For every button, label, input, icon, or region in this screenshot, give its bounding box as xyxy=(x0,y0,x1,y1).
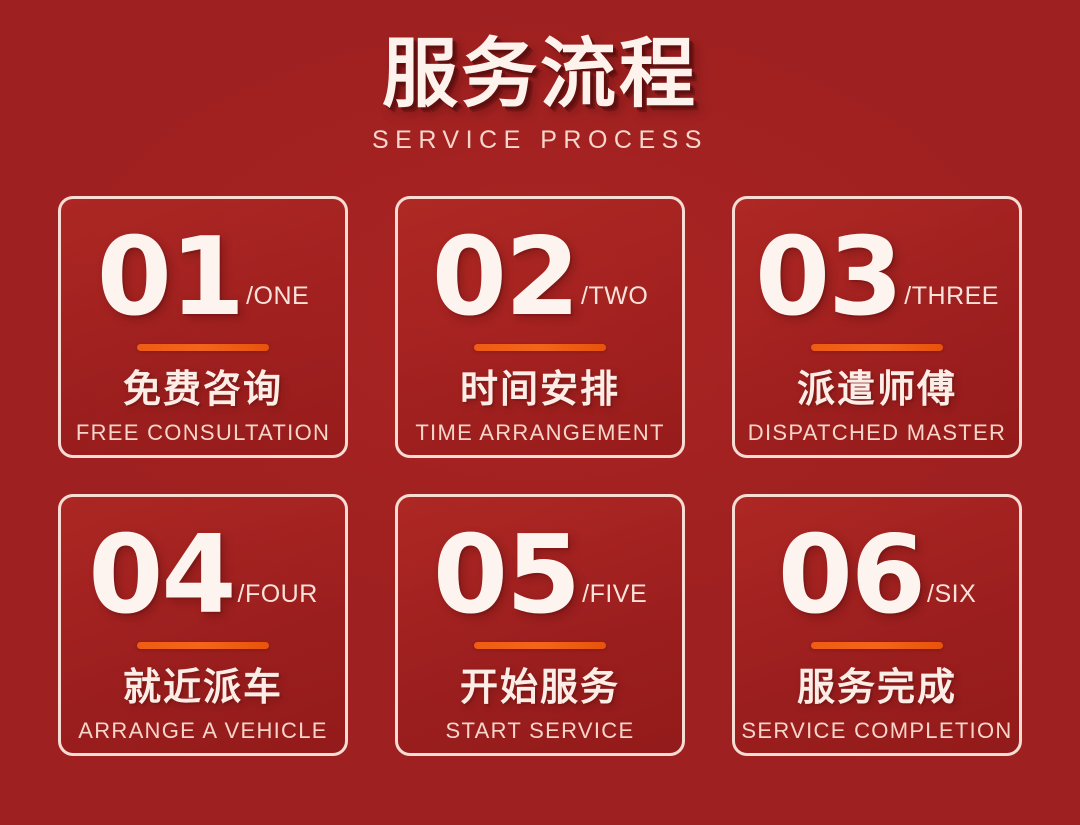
step-label-en: SERVICE COMPLETION xyxy=(741,719,1012,743)
step-grid: 01 /ONE 免费咨询 FREE CONSULTATION 02 /TWO 时… xyxy=(58,196,1022,756)
step-number-suffix: /FOUR xyxy=(238,580,318,625)
step-number-suffix: /FIVE xyxy=(582,580,647,625)
step-card-06[interactable]: 06 /SIX 服务完成 SERVICE COMPLETION xyxy=(732,494,1022,756)
step-label-en: ARRANGE A VEHICLE xyxy=(78,719,328,743)
orange-divider-icon xyxy=(474,344,606,351)
step-number: 06 xyxy=(778,526,924,625)
step-label-cn: 开始服务 xyxy=(460,666,620,709)
orange-divider-icon xyxy=(811,344,943,351)
step-number: 04 xyxy=(88,526,234,625)
orange-divider-icon xyxy=(137,642,269,649)
step-number: 02 xyxy=(432,228,578,327)
step-card-01[interactable]: 01 /ONE 免费咨询 FREE CONSULTATION xyxy=(58,196,348,458)
orange-divider-icon xyxy=(137,344,269,351)
step-card-05[interactable]: 05 /FIVE 开始服务 START SERVICE xyxy=(395,494,685,756)
step-label-cn: 服务完成 xyxy=(797,666,957,709)
step-number-suffix: /SIX xyxy=(927,580,976,625)
service-process-poster: 服务流程 SERVICE PROCESS 01 /ONE 免费咨询 FREE C… xyxy=(0,0,1080,825)
page-title: 服务流程 xyxy=(0,34,1080,114)
step-number-row: 03 /THREE xyxy=(735,215,1019,327)
step-label-en: START SERVICE xyxy=(446,719,635,743)
step-label-en: DISPATCHED MASTER xyxy=(748,421,1006,445)
step-label-cn: 时间安排 xyxy=(460,368,620,411)
step-card-03[interactable]: 03 /THREE 派遣师傅 DISPATCHED MASTER xyxy=(732,196,1022,458)
step-number: 03 xyxy=(755,228,901,327)
step-label-en: TIME ARRANGEMENT xyxy=(415,421,664,445)
step-number-row: 04 /FOUR xyxy=(61,513,345,625)
step-number-suffix: /THREE xyxy=(904,282,999,327)
orange-divider-icon xyxy=(474,642,606,649)
step-card-02[interactable]: 02 /TWO 时间安排 TIME ARRANGEMENT xyxy=(395,196,685,458)
orange-divider-icon xyxy=(811,642,943,649)
step-label-en: FREE CONSULTATION xyxy=(76,421,330,445)
step-label-cn: 就近派车 xyxy=(123,666,283,709)
poster-header: 服务流程 SERVICE PROCESS xyxy=(0,34,1080,155)
page-subtitle: SERVICE PROCESS xyxy=(0,126,1080,155)
step-number: 01 xyxy=(97,228,243,327)
step-number-row: 05 /FIVE xyxy=(398,513,682,625)
step-label-cn: 派遣师傅 xyxy=(797,368,957,411)
step-number: 05 xyxy=(433,526,579,625)
step-number-row: 02 /TWO xyxy=(398,215,682,327)
step-number-row: 06 /SIX xyxy=(735,513,1019,625)
step-card-04[interactable]: 04 /FOUR 就近派车 ARRANGE A VEHICLE xyxy=(58,494,348,756)
step-label-cn: 免费咨询 xyxy=(123,368,283,411)
step-number-suffix: /ONE xyxy=(246,282,309,327)
step-number-row: 01 /ONE xyxy=(61,215,345,327)
step-number-suffix: /TWO xyxy=(581,282,648,327)
